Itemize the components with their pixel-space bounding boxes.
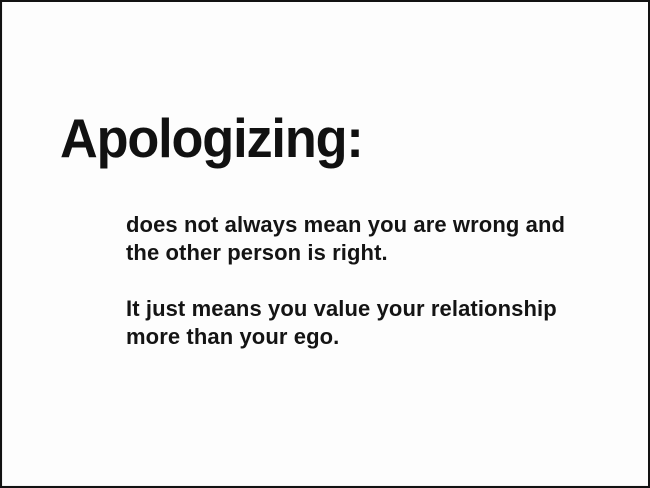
quote-paragraph: It just means you value your relationshi…	[126, 295, 626, 351]
quote-line: It just means you value your relationshi…	[126, 295, 626, 323]
quote-paragraph: does not always mean you are wrong and t…	[126, 211, 626, 267]
quote-line: does not always mean you are wrong and	[126, 211, 626, 239]
quote-body: does not always mean you are wrong and t…	[126, 211, 626, 351]
quote-card: Apologizing: does not always mean you ar…	[0, 0, 650, 488]
quote-line: more than your ego.	[126, 323, 626, 351]
quote-line: the other person is right.	[126, 239, 626, 267]
page-title: Apologizing:	[60, 108, 363, 168]
